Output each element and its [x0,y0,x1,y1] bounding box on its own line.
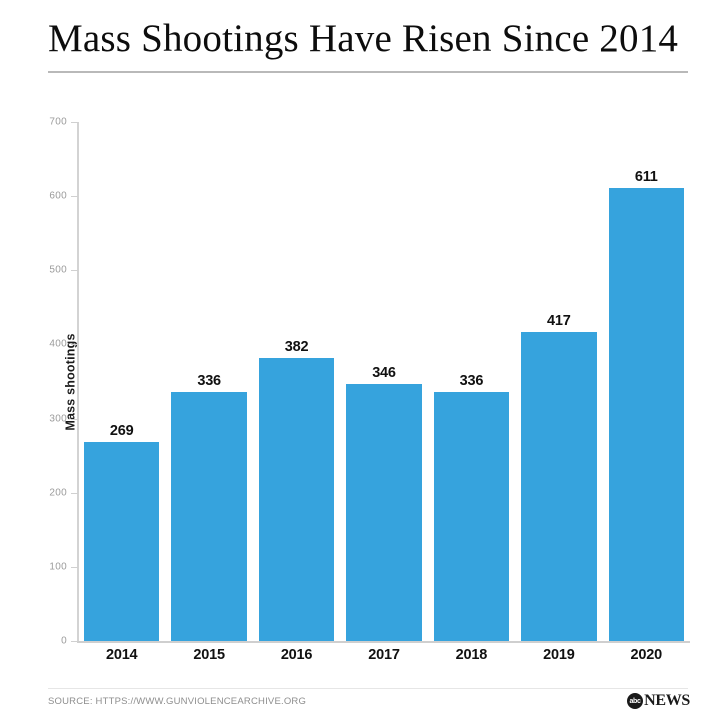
x-axis-tick-label: 2016 [281,647,312,663]
bar-value-label: 336 [460,373,484,389]
bar-value-label: 382 [285,339,309,355]
bar-column: 3462017 [340,122,427,641]
y-axis-tick-label: 300 [49,413,67,424]
y-axis-tick-label: 200 [49,487,67,498]
y-axis-tick-label: 500 [49,265,67,276]
bar-column: 6112020 [603,122,690,641]
y-axis-tick [71,567,78,568]
bar-value-label: 336 [197,373,221,389]
plot-area: 0100200300400500600700 26920143362015382… [78,122,690,641]
bar-column: 3822016 [253,122,340,641]
bar[interactable] [171,392,246,641]
bar[interactable] [84,442,159,641]
y-axis-tick-label: 100 [49,561,67,572]
bar-column: 3362018 [428,122,515,641]
bar-value-label: 346 [372,365,396,381]
x-axis-tick-label: 2019 [543,647,574,663]
title-divider [48,71,688,73]
x-axis-tick-label: 2017 [368,647,399,663]
news-wordmark: NEWS [644,693,690,709]
bar[interactable] [346,384,421,641]
bar-column: 4172019 [515,122,602,641]
abc-news-logo: abc NEWS [627,693,690,709]
y-axis-tick-label: 400 [49,339,67,350]
bar[interactable] [609,188,684,641]
y-axis-tick [71,270,78,271]
y-axis-tick [71,493,78,494]
y-axis-tick [71,344,78,345]
bar-value-label: 417 [547,313,571,329]
x-axis-tick-label: 2018 [456,647,487,663]
x-axis-tick-label: 2014 [106,647,137,663]
page-title: Mass Shootings Have Risen Since 2014 [48,16,692,62]
bar-value-label: 611 [635,169,658,185]
source-attribution: SOURCE: HTTPS://WWW.GUNVIOLENCEARCHIVE.O… [48,696,306,707]
y-axis-tick [71,641,78,642]
abc-circle-icon: abc [627,693,643,709]
y-axis-tick [71,122,78,123]
bar-value-label: 269 [110,423,134,439]
x-axis-tick-label: 2015 [193,647,224,663]
bar-column: 2692014 [78,122,165,641]
bar[interactable] [521,332,596,641]
y-axis-tick-label: 600 [49,191,67,202]
bar-column: 3362015 [165,122,252,641]
chart-page: Mass Shootings Have Risen Since 2014 Mas… [0,0,720,720]
bar[interactable] [259,358,334,641]
y-axis-tick [71,419,78,420]
y-axis-title-container: Mass shootings [8,122,34,641]
footer-divider [48,688,688,689]
x-axis-line [77,641,690,643]
y-axis-tick [71,196,78,197]
x-axis-tick-label: 2020 [631,647,662,663]
y-axis-tick-label: 0 [61,636,67,647]
bar[interactable] [434,392,509,641]
y-axis-tick-label: 700 [49,117,67,128]
